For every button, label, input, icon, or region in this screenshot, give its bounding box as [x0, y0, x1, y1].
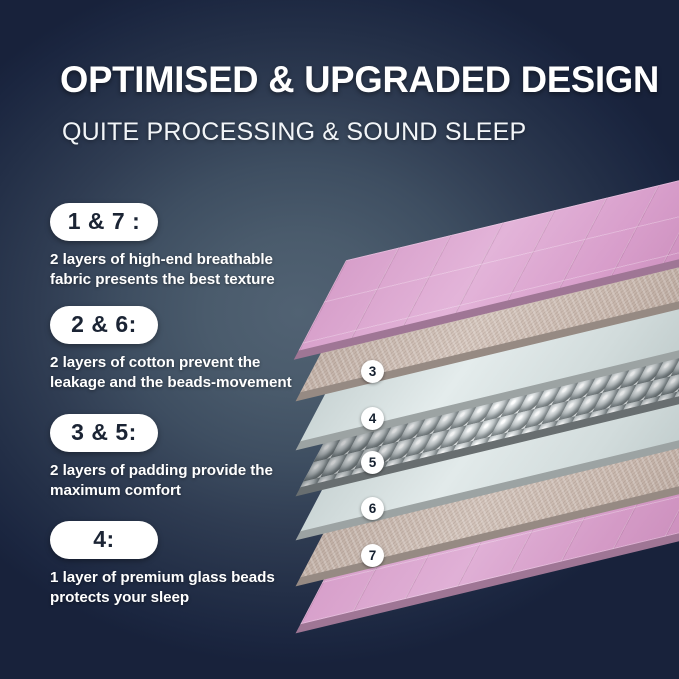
infographic-canvas: OPTIMISED & UPGRADED DESIGN QUITE PROCES… — [0, 0, 679, 679]
layer-badge-3: 3 — [361, 360, 384, 383]
layer-badge-5: 5 — [361, 451, 384, 474]
layer-badge-4: 4 — [361, 407, 384, 430]
layer-badge-6: 6 — [361, 497, 384, 520]
layer-badge-7: 7 — [361, 544, 384, 567]
exploded-layer-stack: 1 2 3 4 5 6 7 — [0, 0, 679, 679]
